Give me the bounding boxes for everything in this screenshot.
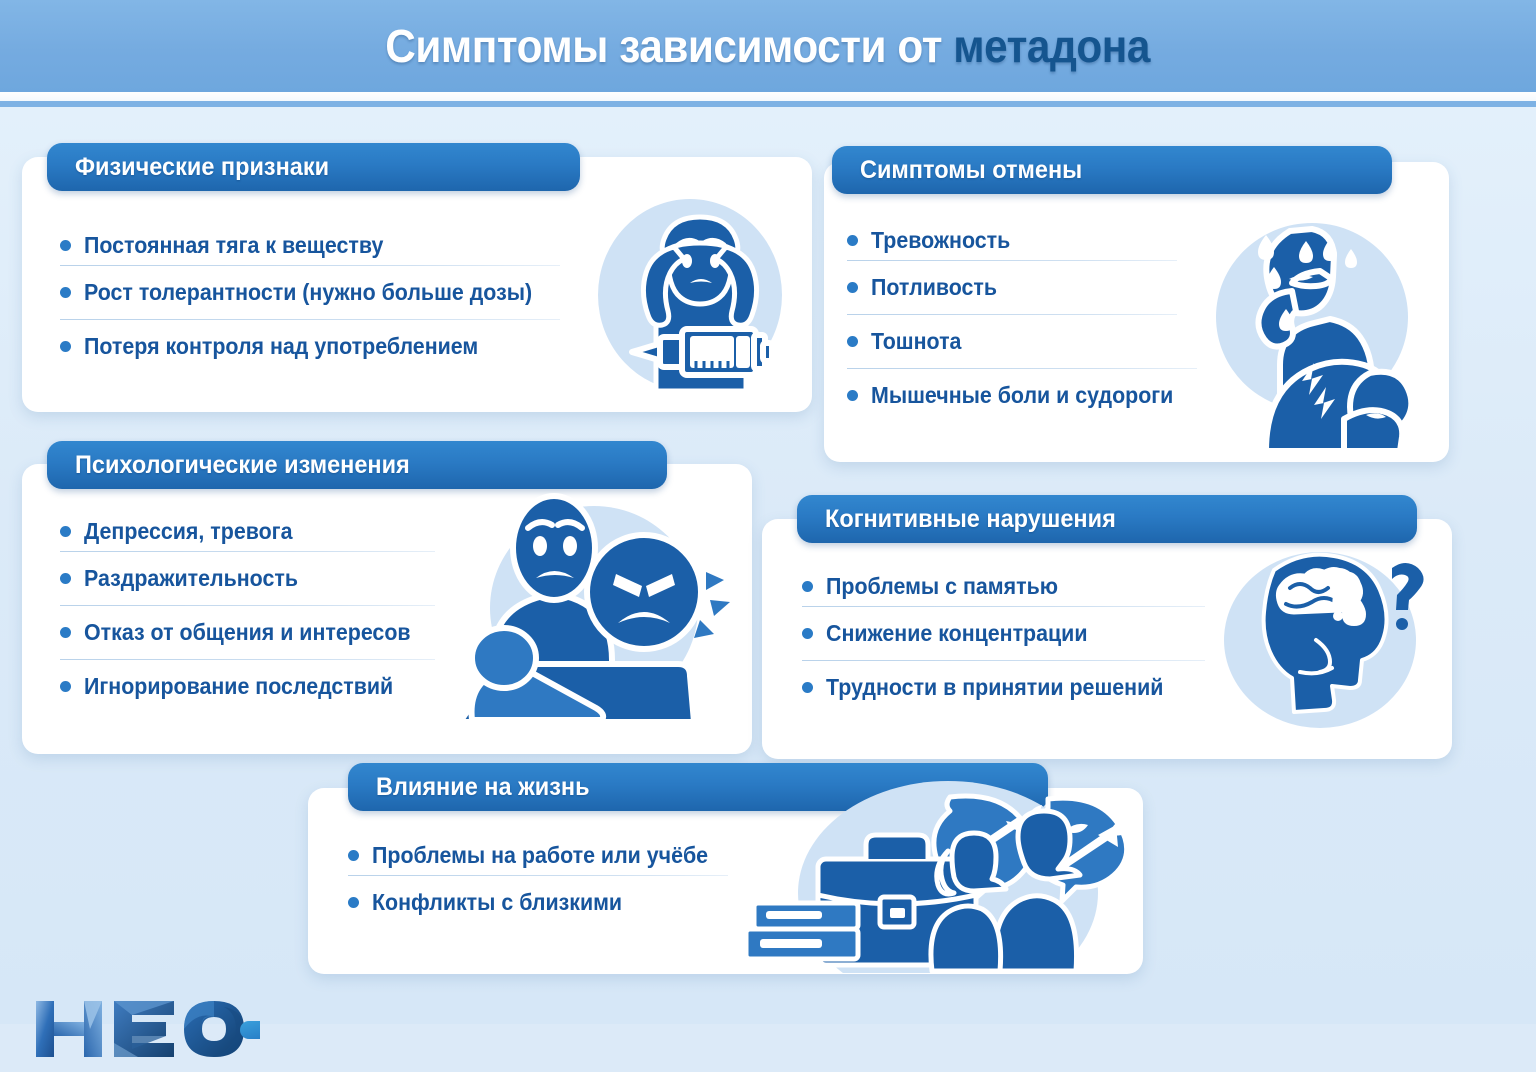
list-item-label: Мышечные боли и судороги xyxy=(871,382,1173,409)
card-title-label: Когнитивные нарушения xyxy=(825,505,1116,534)
page-title-main: Симптомы зависимости от xyxy=(386,20,954,72)
bullet-dot-icon xyxy=(847,336,858,347)
bullet-dot-icon xyxy=(802,581,813,592)
brand-logo xyxy=(28,991,260,1067)
page-title-accent: метадона xyxy=(954,20,1151,72)
bullet-dot-icon xyxy=(60,627,71,638)
list-item: Трудности в принятии решений xyxy=(802,661,1222,714)
bullet-dot-icon xyxy=(60,240,71,251)
list-item-label: Снижение концентрации xyxy=(826,620,1087,647)
list-item-label: Отказ от общения и интересов xyxy=(84,619,411,646)
bullet-dot-icon xyxy=(847,235,858,246)
bullet-dot-icon xyxy=(60,341,71,352)
list-item-label: Раздражительность xyxy=(84,565,298,592)
list-item-label: Тошнота xyxy=(871,328,961,355)
illustration-person-headache-syringe xyxy=(578,195,798,395)
list-item-label: Трудности в принятии решений xyxy=(826,674,1163,701)
list-item: Потливость xyxy=(847,261,1197,314)
bullet-dot-icon xyxy=(847,390,858,401)
bullet-dot-icon xyxy=(802,628,813,639)
list-item: Постоянная тяга к веществу xyxy=(60,225,570,265)
card-title-label: Физические признаки xyxy=(75,153,329,182)
card-title-withdrawal-symptoms: Симптомы отмены xyxy=(832,146,1392,194)
list-item-label: Игнорирование последствий xyxy=(84,673,393,700)
illustration-sad-angry-person xyxy=(444,490,744,725)
list-item: Депрессия, тревога xyxy=(60,511,450,551)
list-item-label: Депрессия, тревога xyxy=(84,518,292,545)
card-list-physical-signs: Постоянная тяга к веществу Рост толерант… xyxy=(60,225,570,373)
list-item-label: Тревожность xyxy=(871,227,1010,254)
card-list-psychological-changes: Депрессия, тревога Раздражительность Отк… xyxy=(60,511,450,713)
illustration-person-sweating-cramps xyxy=(1194,205,1444,455)
bullet-dot-icon xyxy=(60,681,71,692)
list-item-label: Проблемы на работе или учёбе xyxy=(372,842,708,869)
list-item: Потеря контроля над употреблением xyxy=(60,320,570,373)
bullet-dot-icon xyxy=(348,850,359,861)
bullet-dot-icon xyxy=(60,287,71,298)
list-item: Проблемы на работе или учёбе xyxy=(348,835,748,875)
list-item: Мышечные боли и судороги xyxy=(847,369,1197,422)
list-item-label: Потеря контроля над употреблением xyxy=(84,333,478,360)
list-item-label: Постоянная тяга к веществу xyxy=(84,232,383,259)
card-title-label: Психологические изменения xyxy=(75,451,410,480)
card-title-label: Влияние на жизнь xyxy=(376,773,590,802)
list-item: Снижение концентрации xyxy=(802,607,1222,660)
card-title-physical-signs: Физические признаки xyxy=(47,143,580,191)
bullet-dot-icon xyxy=(847,282,858,293)
bullet-dot-icon xyxy=(60,573,71,584)
card-title-cognitive-impairment: Когнитивные нарушения xyxy=(797,495,1417,543)
list-item: Рост толерантности (нужно больше дозы) xyxy=(60,266,570,319)
list-item-label: Конфликты с близкими xyxy=(372,889,622,916)
illustration-head-brain-question xyxy=(1216,544,1436,734)
card-list-withdrawal-symptoms: Тревожность Потливость Тошнота Мышечные … xyxy=(847,220,1197,422)
list-item: Проблемы с памятью xyxy=(802,566,1222,606)
page-header: Симптомы зависимости от метадона xyxy=(0,0,1536,92)
header-gap-divider xyxy=(0,92,1536,101)
infographic-canvas: Физические признаки Постоянная тяга к ве… xyxy=(0,107,1536,1024)
list-item: Отказ от общения и интересов xyxy=(60,606,450,659)
list-item: Раздражительность xyxy=(60,552,450,605)
card-title-psychological-changes: Психологические изменения xyxy=(47,441,667,489)
card-list-life-impact: Проблемы на работе или учёбе Конфликты с… xyxy=(348,835,748,929)
illustration-briefcase-books-people xyxy=(718,775,1128,973)
card-title-label: Симптомы отмены xyxy=(860,156,1082,185)
list-item-label: Проблемы с памятью xyxy=(826,573,1058,600)
list-item-label: Потливость xyxy=(871,274,997,301)
list-item-label: Рост толерантности (нужно больше дозы) xyxy=(84,279,532,306)
bullet-dot-icon xyxy=(60,526,71,537)
bullet-dot-icon xyxy=(348,897,359,908)
bullet-dot-icon xyxy=(802,682,813,693)
list-item: Тошнота xyxy=(847,315,1197,368)
list-item: Конфликты с близкими xyxy=(348,876,748,929)
list-item: Игнорирование последствий xyxy=(60,660,450,713)
list-item: Тревожность xyxy=(847,220,1197,260)
card-list-cognitive-impairment: Проблемы с памятью Снижение концентрации… xyxy=(802,566,1222,714)
page-title: Симптомы зависимости от метадона xyxy=(386,19,1151,73)
